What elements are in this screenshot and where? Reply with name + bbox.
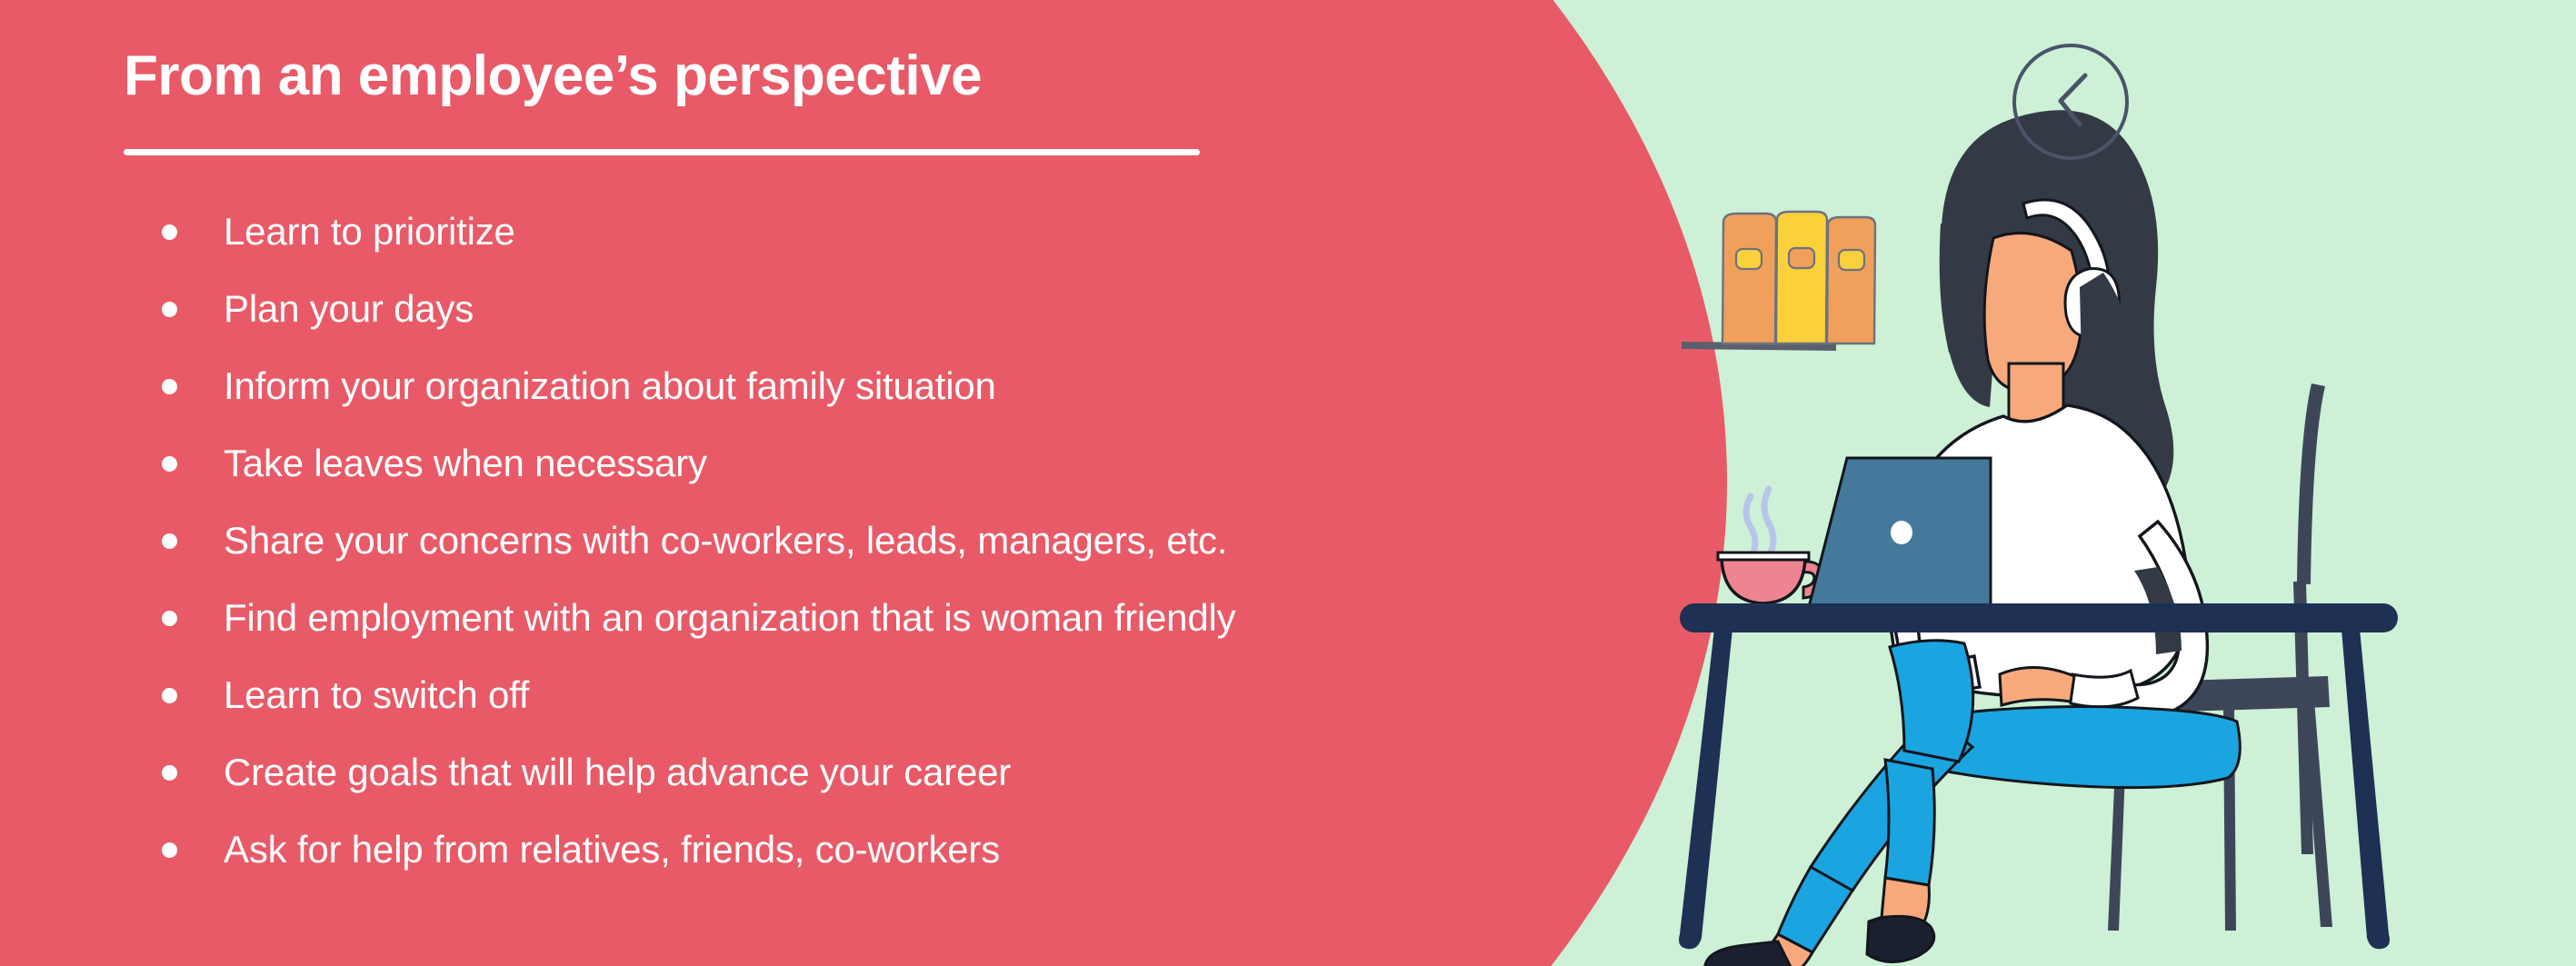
book-orange-right-label — [1839, 250, 1864, 270]
bullet-dot-icon — [162, 611, 177, 626]
laptop-logo — [1891, 521, 1912, 544]
sleeve-cuff-right — [2071, 671, 2138, 707]
leg-back-lower — [1885, 760, 1934, 885]
list-item: Create goals that will help advance your… — [162, 733, 1235, 811]
book-orange-right — [1827, 217, 1875, 344]
cup-rim — [1718, 553, 1809, 560]
laptop-group — [1809, 458, 1991, 607]
shoe-back — [1867, 916, 1934, 961]
leg-back-upper — [1890, 641, 1973, 762]
slide-canvas: From an employee’s perspective Learn to … — [0, 0, 2576, 966]
list-item: Plan your days — [162, 270, 1235, 347]
bullet-list: Learn to prioritize Plan your days Infor… — [162, 193, 1235, 888]
bullet-dot-icon — [162, 688, 177, 703]
chevron-left-icon — [2061, 75, 2085, 124]
back-button[interactable] — [2010, 41, 2132, 163]
bullet-dot-icon — [162, 842, 177, 858]
coffee-cup-group — [1718, 489, 1823, 603]
list-item: Share your concerns with co-workers, lea… — [162, 502, 1235, 579]
text-content-panel: From an employee’s perspective Learn to … — [0, 0, 1591, 966]
list-item: Ask for help from relatives, friends, co… — [162, 811, 1235, 888]
steam-right — [1764, 489, 1773, 556]
page-title: From an employee’s perspective — [124, 44, 982, 108]
bullet-dot-icon — [162, 456, 177, 472]
bullet-dot-icon — [162, 765, 177, 781]
bullet-dot-icon — [162, 379, 177, 394]
desk-leg-left — [1679, 629, 1732, 949]
list-item: Learn to switch off — [162, 656, 1235, 733]
hand-right — [2000, 667, 2074, 705]
desk-leg-right — [2341, 629, 2390, 949]
bullet-dot-icon — [162, 533, 177, 549]
bullet-text: Plan your days — [224, 287, 474, 330]
shoe-front — [1705, 941, 1791, 966]
book-yellow-middle-label — [1789, 248, 1814, 268]
book-orange-left-label — [1736, 249, 1762, 269]
list-item: Inform your organization about family si… — [162, 347, 1235, 424]
book-yellow-middle — [1776, 212, 1827, 344]
bullet-text: Find employment with an organization tha… — [224, 596, 1235, 639]
bullet-text: Learn to switch off — [224, 673, 529, 716]
list-item: Take leaves when necessary — [162, 424, 1235, 502]
bullet-dot-icon — [162, 302, 177, 317]
list-item: Learn to prioritize — [162, 193, 1235, 270]
bookshelf-group — [1682, 212, 1875, 351]
bullet-text: Take leaves when necessary — [224, 442, 707, 484]
bullet-text: Create goals that will help advance your… — [224, 751, 1011, 793]
title-underline — [124, 149, 1200, 155]
bullet-text: Share your concerns with co-workers, lea… — [224, 519, 1227, 562]
chair-back-rail — [2297, 383, 2325, 584]
desk-top — [1680, 603, 2398, 632]
bullet-text: Ask for help from relatives, friends, co… — [224, 828, 1000, 871]
steam-left — [1746, 496, 1755, 558]
bullet-text: Learn to prioritize — [224, 210, 515, 253]
bullet-text: Inform your organization about family si… — [224, 364, 996, 407]
list-item: Find employment with an organization tha… — [162, 579, 1235, 656]
bullet-dot-icon — [162, 224, 177, 240]
book-orange-left — [1722, 214, 1776, 344]
cup-body — [1722, 558, 1805, 603]
back-button-circle — [2014, 45, 2127, 158]
